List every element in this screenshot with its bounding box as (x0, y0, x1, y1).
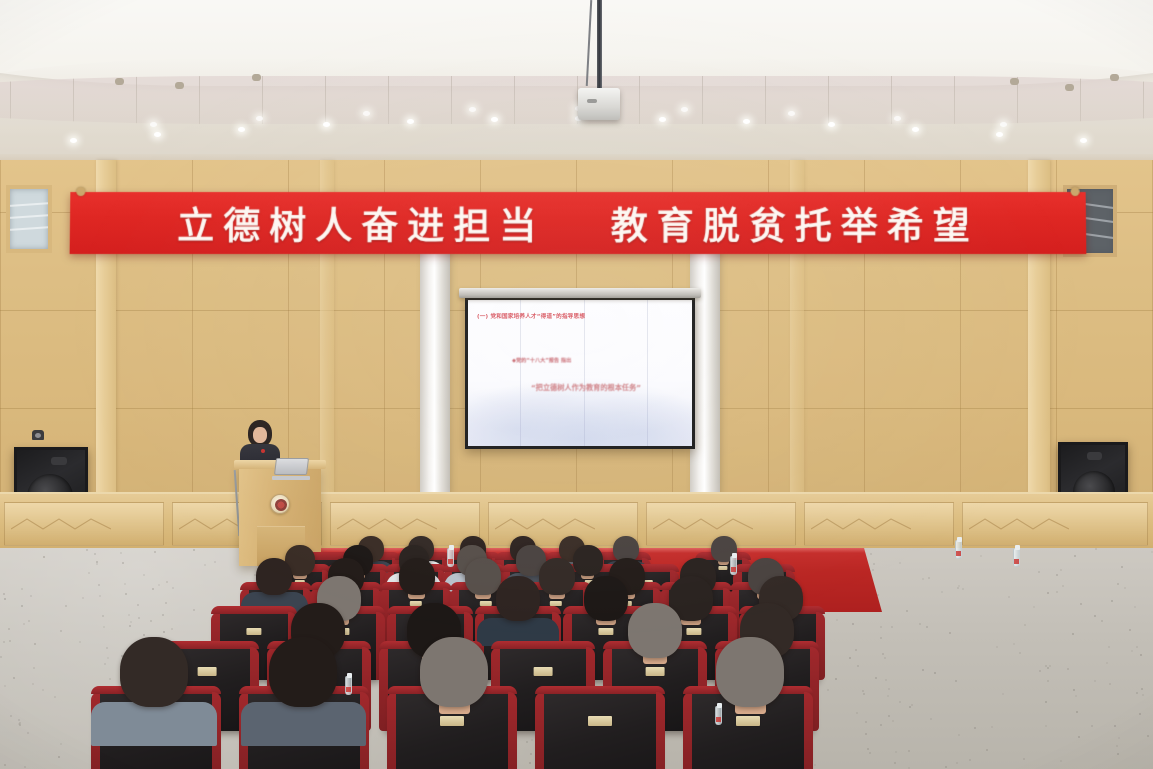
floor-speckle (955, 680, 957, 682)
floor-speckle (4, 685, 6, 687)
floor-speckle (928, 577, 930, 579)
floor-speckle (158, 584, 160, 586)
downlight (491, 117, 498, 122)
floor-speckle (836, 619, 838, 621)
floor-speckle (922, 669, 924, 671)
floor-speckle (150, 620, 152, 622)
floor-speckle (530, 753, 532, 755)
floor-speckle (884, 657, 886, 659)
floor-speckle (1049, 665, 1051, 667)
audience-head (539, 558, 575, 595)
floor-speckle (162, 614, 164, 616)
floor-speckle (1111, 600, 1113, 602)
floor-speckle (143, 634, 145, 636)
floor-speckle (958, 734, 960, 736)
laptop-screen (274, 458, 309, 475)
seat-number-plate (588, 716, 612, 726)
audience-head (420, 637, 488, 707)
stage-panel (4, 502, 164, 546)
floor-speckle (23, 623, 25, 625)
floor-speckle (1080, 603, 1082, 605)
floor-speckle (125, 593, 127, 595)
floor-speckle (109, 678, 111, 680)
floor-speckle (1121, 566, 1123, 568)
seat-number-plate (718, 566, 727, 570)
seat-number-plate (246, 628, 261, 635)
floor-speckle (863, 693, 865, 695)
presenter-lapel-pin (261, 449, 265, 453)
floor-speckle (835, 678, 837, 680)
audience-head (573, 545, 603, 576)
stage-panel-zigzag (337, 517, 437, 531)
floor-speckle (962, 588, 964, 590)
floor-speckle (103, 626, 105, 628)
floor-speckle (129, 625, 131, 627)
floor-speckle (1106, 662, 1108, 664)
floor-speckle (21, 588, 23, 590)
seat-number-plate (736, 716, 760, 726)
floor-speckle (1033, 606, 1035, 608)
ceiling-spot-fixture (1110, 74, 1119, 81)
downlight (1000, 122, 1007, 127)
audience-head (584, 576, 628, 621)
floor-speckle (906, 610, 908, 612)
floor-speckle (880, 724, 882, 726)
floor-speckle (27, 732, 29, 734)
floor-speckle (102, 615, 104, 617)
floor-speckle (1013, 643, 1015, 645)
floor-speckle (894, 762, 896, 764)
floor-speckle (888, 715, 890, 717)
downlight (1080, 138, 1087, 143)
floor-speckle (0, 656, 2, 658)
floor-speckle (1075, 695, 1077, 697)
audience-shoulders (241, 702, 367, 746)
presenter-face (253, 427, 267, 443)
floor-speckle (956, 762, 958, 764)
floor-speckle (895, 751, 897, 753)
floor-speckle (152, 588, 154, 590)
projection-screen: (一) 党和国家培养人才“得道”的指导思想 ◆党的“十八大”报告 指出 “把立德… (468, 300, 692, 446)
hall-column-left (420, 248, 450, 498)
floor-speckle (855, 649, 857, 651)
screen-roller-housing (459, 288, 701, 298)
floor-speckle (19, 724, 21, 726)
floor-speckle (9, 640, 11, 642)
water-bottle (1013, 548, 1020, 567)
floor-speckle (1118, 737, 1120, 739)
floor-speckle (852, 623, 854, 625)
floor-speckle (130, 621, 132, 623)
floor-speckle (163, 631, 165, 633)
floor-speckle (143, 574, 145, 576)
floor-speckle (1136, 692, 1138, 694)
floor-speckle (86, 549, 88, 551)
floor-speckle (827, 689, 829, 691)
floor-speckle (922, 578, 924, 580)
floor-speckle (1094, 680, 1096, 682)
floor-speckle (106, 647, 108, 649)
floor-speckle (1139, 713, 1141, 715)
floor-speckle (865, 721, 867, 723)
floor-speckle (1142, 694, 1144, 696)
floor-speckle (172, 587, 174, 589)
ceiling-spot-fixture (252, 74, 261, 81)
floor-speckle (1067, 668, 1069, 670)
floor-speckle (60, 630, 62, 632)
floor-speckle (65, 605, 67, 607)
floor-speckle (880, 637, 882, 639)
floor-speckle (171, 628, 173, 630)
wall-window-left (6, 185, 52, 253)
floor-speckle (814, 764, 816, 766)
floor-speckle (899, 701, 901, 703)
audience-shoulders (91, 702, 217, 746)
slide-quote: “把立德树人作为教育的根本任务” (488, 383, 684, 393)
floor-speckle (28, 620, 30, 622)
audience-head (120, 637, 188, 707)
floor-speckle (204, 564, 206, 566)
floor-speckle (1074, 555, 1076, 557)
laptop-base (272, 476, 310, 480)
stage-panel (330, 502, 480, 546)
audience-head (399, 558, 435, 595)
seat-headrest (211, 606, 297, 614)
floor-speckle (96, 561, 98, 563)
banner-text: 立德树人奋进担当 教育脱贫托举希望 (177, 196, 979, 250)
floor-speckle (986, 749, 988, 751)
floor-speckle (980, 555, 982, 557)
audience-head (269, 637, 337, 707)
floor-speckle (991, 726, 993, 728)
ceiling (0, 0, 1153, 172)
slide-title: (一) 党和国家培养人才“得道”的指导思想 (477, 312, 686, 320)
stage-panel-zigzag (653, 517, 753, 531)
floor-speckle (34, 643, 36, 645)
floor-speckle (862, 690, 864, 692)
floor-speckle (941, 591, 943, 593)
floor-speckle (1073, 689, 1075, 691)
floor-speckle (193, 609, 195, 611)
floor-speckle (885, 679, 887, 681)
floor-speckle (58, 756, 60, 758)
floor-speckle (1108, 646, 1110, 648)
stage-panel-zigzag (11, 517, 111, 531)
floor-speckle (1045, 701, 1047, 703)
floor-speckle (875, 677, 877, 679)
floor-speckle (1047, 680, 1049, 682)
floor-speckle (887, 695, 889, 697)
floor-speckle (43, 556, 45, 558)
floor-speckle (122, 562, 124, 564)
floor-speckle (891, 626, 893, 628)
water-bottle (955, 540, 962, 559)
floor-speckle (867, 748, 869, 750)
floor-speckle (526, 741, 528, 743)
floor-speckle (30, 595, 32, 597)
floor-speckle (1117, 583, 1119, 585)
floor-speckle (42, 689, 44, 691)
floor-speckle (1091, 725, 1093, 727)
downlight (407, 119, 414, 124)
floor-speckle (1124, 587, 1126, 589)
seat-number-plate (198, 667, 217, 676)
floor-speckle (1141, 688, 1143, 690)
stage-panel-zigzag (811, 517, 911, 531)
floor-speckle (870, 553, 872, 555)
floor-speckle (166, 581, 168, 583)
floor-speckle (1047, 592, 1049, 594)
floor-speckle (1131, 650, 1133, 652)
floor-speckle (3, 593, 5, 595)
floor-speckle (869, 752, 871, 754)
floor-speckle (1060, 569, 1062, 571)
floor-speckle (21, 605, 23, 607)
floor-speckle (1117, 753, 1119, 755)
floor-speckle (18, 719, 20, 721)
floor-speckle (1045, 665, 1047, 667)
floor-speckle (1024, 624, 1026, 626)
floor-speckle (1134, 606, 1136, 608)
floor-speckle (865, 733, 867, 735)
floor-speckle (1072, 633, 1074, 635)
audience-head (496, 576, 540, 621)
floor-speckle (98, 584, 100, 586)
floor-speckle (1062, 585, 1064, 587)
floor-speckle (930, 718, 932, 720)
floor-speckle (124, 583, 126, 585)
floor-speckle (529, 762, 531, 764)
floor-speckle (138, 617, 140, 619)
floor-speckle (1147, 735, 1149, 737)
projector-mount-pole (597, 0, 602, 92)
floor-speckle (3, 641, 5, 643)
floor-speckle (882, 653, 884, 655)
floor-speckle (120, 552, 122, 554)
projection-screen-frame: (一) 党和国家培养人才“得道”的指导思想 ◆党的“十八大”报告 指出 “把立德… (465, 297, 695, 449)
floor-speckle (856, 712, 858, 714)
floor-speckle (4, 764, 6, 766)
floor-speckle (919, 623, 921, 625)
water-bottle (715, 706, 722, 725)
floor-speckle (957, 587, 959, 589)
floor-speckle (926, 626, 928, 628)
ceiling-spot-fixture (1065, 84, 1074, 91)
floor-speckle (873, 563, 875, 565)
floor-speckle (96, 563, 98, 565)
floor-speckle (934, 672, 936, 674)
floor-speckle (104, 663, 106, 665)
floor-speckle (33, 667, 35, 669)
floor-speckle (107, 657, 109, 659)
floor-speckle (1114, 725, 1116, 727)
floor-speckle (54, 696, 56, 698)
presenter-laptop (272, 458, 310, 478)
ceiling-spot-fixture (175, 82, 184, 89)
audience-head (628, 603, 682, 658)
stage-panel (804, 502, 954, 546)
tweeter-icon (1087, 452, 1102, 460)
downlight (659, 117, 666, 122)
floor-speckle (1056, 574, 1058, 576)
floor-speckle (974, 727, 976, 729)
floor-speckle (1109, 683, 1111, 685)
floor-speckle (99, 595, 101, 597)
downlight (894, 116, 901, 121)
seat-headrest (535, 686, 665, 694)
ceiling-spot-fixture (115, 78, 124, 85)
stage-panel-zigzag (969, 517, 1069, 531)
floor-speckle (949, 632, 951, 634)
floor-speckle (857, 665, 859, 667)
floor-speckle (1136, 646, 1138, 648)
floor-speckle (24, 766, 26, 768)
stage-panel (962, 502, 1148, 546)
floor-speckle (996, 646, 998, 648)
floor-speckle (32, 683, 34, 685)
seat-number-plate (686, 628, 701, 635)
downlight (363, 111, 370, 116)
floor-speckle (1140, 654, 1142, 656)
downlight (788, 111, 795, 116)
floor-speckle (4, 598, 6, 600)
floor-speckle (892, 720, 894, 722)
floor-speckle (1038, 571, 1040, 573)
floor-speckle (79, 641, 81, 643)
floor-speckle (1116, 745, 1118, 747)
floor-speckle (8, 628, 10, 630)
floor-speckle (1039, 670, 1041, 672)
floor-speckle (214, 561, 216, 563)
seat-number-plate (534, 667, 553, 676)
downlight (70, 138, 77, 143)
ceiling-camera (32, 430, 44, 440)
floor-speckle (165, 602, 167, 604)
water-bottle (447, 548, 454, 567)
floor-speckle (154, 551, 156, 553)
floor-speckle (128, 614, 130, 616)
floor-speckle (531, 739, 533, 741)
floor-speckle (911, 704, 913, 706)
floor-speckle (1008, 596, 1010, 598)
tweeter-icon (51, 457, 67, 465)
audience-head (256, 558, 292, 595)
floor-speckle (1095, 548, 1097, 550)
floor-speckle (1023, 758, 1025, 760)
floor-speckle (1101, 620, 1103, 622)
audience-head (465, 558, 501, 595)
floor-speckle (94, 553, 96, 555)
floor-speckle (1002, 693, 1004, 695)
floor-speckle (880, 626, 882, 628)
water-bottle (345, 676, 352, 695)
floor-speckle (969, 759, 971, 761)
downlight (150, 122, 157, 127)
floor-speckle (849, 657, 851, 659)
floor-speckle (88, 572, 90, 574)
stage-panel-zigzag (495, 517, 595, 531)
floor-speckle (1019, 652, 1021, 654)
floor-speckle (10, 715, 12, 717)
downlight (912, 127, 919, 132)
floor-speckle (1094, 615, 1096, 617)
floor-speckle (1045, 725, 1047, 727)
floor-speckle (872, 569, 874, 571)
floor-speckle (13, 677, 15, 679)
seat-number-plate (646, 667, 665, 676)
water-bottle (730, 556, 737, 575)
floor-speckle (82, 597, 84, 599)
podium-emblem-icon (270, 494, 290, 514)
floor-speckle (899, 562, 901, 564)
seat-number-plate (598, 628, 613, 635)
floor-speckle (1078, 736, 1080, 738)
slide-bullet: ◆党的“十八大”报告 指出 (512, 357, 684, 364)
floor-speckle (137, 604, 139, 606)
audience-head (716, 637, 784, 707)
floor-speckle (1056, 591, 1058, 593)
ceiling-projector (578, 88, 620, 120)
floor-speckle (193, 549, 195, 551)
floor-speckle (1060, 760, 1062, 762)
seat-number-plate (440, 716, 464, 726)
event-banner: 立德树人奋进担当 教育脱贫托举希望 (70, 192, 1087, 254)
floor-speckle (1129, 629, 1131, 631)
floor-speckle (1076, 711, 1078, 713)
floor-speckle (60, 743, 62, 745)
floor-speckle (888, 688, 890, 690)
seat-headrest (491, 641, 595, 649)
floor-speckle (908, 750, 910, 752)
seat (540, 690, 660, 769)
floor-speckle (945, 766, 947, 768)
auditorium-photo: 立德树人奋进担当 教育脱贫托举希望 (一) 党和国家培养人才“得道”的指导思想 … (0, 0, 1153, 769)
ceiling-spot-fixture (1010, 78, 1019, 85)
